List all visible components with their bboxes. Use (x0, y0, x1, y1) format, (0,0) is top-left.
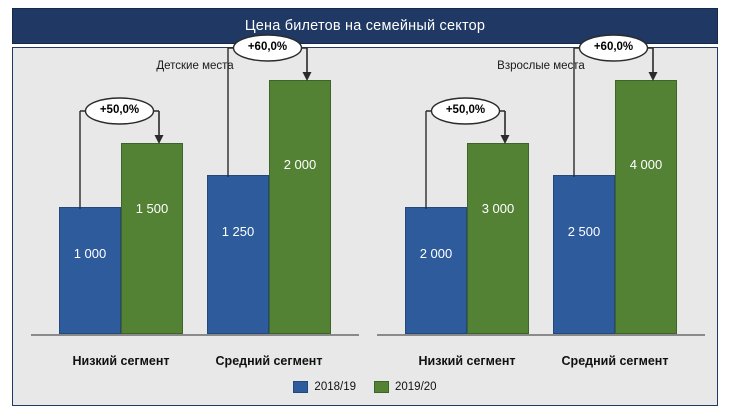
chart-title-band: Цена билетов на семейный сектор (12, 8, 718, 44)
bar-value-label: 1 250 (208, 224, 268, 239)
bar-series-2018-19[interactable]: 1 000 (59, 207, 121, 334)
bar-value-label: 2 500 (554, 224, 614, 239)
bar-value-label: 2 000 (270, 157, 330, 172)
bar-value-label: 2 000 (406, 246, 466, 261)
panel-canvas: 2 0003 000Низкий сегмент+50,0%2 5004 000… (371, 82, 711, 336)
chart-subtitle: Детские места (25, 60, 365, 72)
bar-series-2018-19[interactable]: 2 000 (405, 207, 467, 334)
bar-value-label: 1 500 (122, 201, 182, 216)
bar-value-label: 4 000 (616, 157, 676, 172)
category-label: Средний сегмент (207, 354, 331, 368)
chart-page: Цена билетов на семейный сектор Детские … (0, 0, 730, 416)
panel-canvas: 1 0001 500Низкий сегмент+50,0%1 2502 000… (25, 82, 365, 336)
bar-group: 1 0001 500Низкий сегмент (59, 80, 183, 334)
bar-series-2019-20[interactable]: 4 000 (615, 80, 677, 334)
plot-area: Детские места 1 0001 500Низкий сегмент+5… (12, 47, 718, 406)
bar-group: 2 0003 000Низкий сегмент (405, 80, 529, 334)
bar-value-label: 1 000 (60, 246, 120, 261)
chart-subtitle: Взрослые места (371, 60, 711, 72)
legend-swatch-icon (293, 381, 308, 393)
bar-series-2018-19[interactable]: 2 500 (553, 175, 615, 334)
bar-value-label: 3 000 (468, 201, 528, 216)
bar-series-2019-20[interactable]: 2 000 (269, 80, 331, 334)
category-label: Низкий сегмент (405, 354, 529, 368)
category-label: Низкий сегмент (59, 354, 183, 368)
x-axis-line (31, 334, 359, 336)
page-title: Цена билетов на семейный сектор (245, 18, 485, 34)
bar-series-2018-19[interactable]: 1 250 (207, 175, 269, 334)
legend-item[interactable]: 2018/19 (293, 381, 356, 393)
category-label: Средний сегмент (553, 354, 677, 368)
chart-panel-adults: Взрослые места 2 0003 000Низкий сегмент+… (371, 48, 711, 374)
legend-label: 2018/19 (314, 381, 356, 393)
chart-panel-children: Детские места 1 0001 500Низкий сегмент+5… (25, 48, 365, 374)
bar-group: 1 2502 000Средний сегмент (207, 80, 331, 334)
chart-legend: 2018/192019/20 (13, 381, 717, 393)
legend-swatch-icon (374, 381, 389, 393)
legend-label: 2019/20 (395, 381, 437, 393)
bar-group: 2 5004 000Средний сегмент (553, 80, 677, 334)
bar-series-2019-20[interactable]: 1 500 (121, 143, 183, 334)
x-axis-line (377, 334, 705, 336)
legend-item[interactable]: 2019/20 (374, 381, 437, 393)
bar-series-2019-20[interactable]: 3 000 (467, 143, 529, 334)
